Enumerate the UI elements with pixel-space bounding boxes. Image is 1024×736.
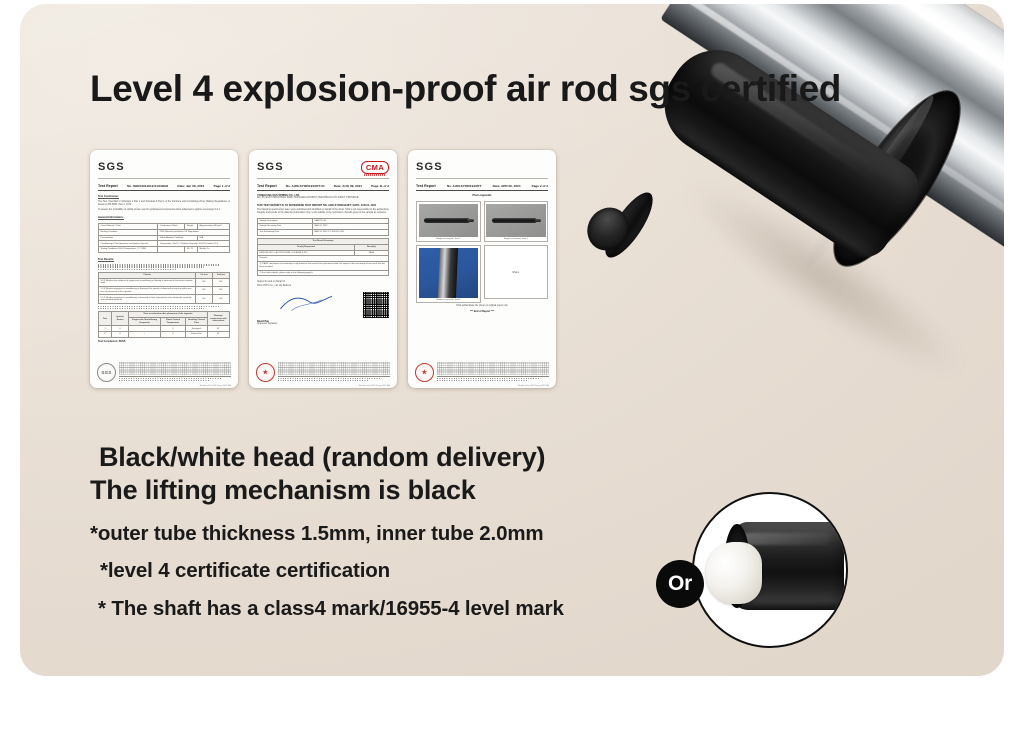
signed-company: SGS-CSTC Co., Ltd. Aie Bodemi <box>257 285 389 288</box>
certificate-footer: ★ <box>415 362 549 382</box>
page-title: Level 4 explosion-proof air rod sgs cert… <box>90 68 930 110</box>
cell: Extinct Fire <box>186 332 207 338</box>
divider <box>278 376 390 377</box>
divider <box>416 190 548 191</box>
cell: NO <box>195 278 212 286</box>
signature-mark <box>257 292 358 314</box>
conclusion-text: The Test, Specified in Schedule 4 Part 1… <box>98 201 230 208</box>
cell: 0 <box>160 332 186 338</box>
report-number: No. AJRLSY0601943/FT <box>447 184 482 188</box>
doc-type: Test Report <box>98 184 118 188</box>
microprint-line <box>278 380 368 381</box>
cell: NO <box>195 295 212 303</box>
cell <box>158 247 185 253</box>
report-number: No. SHES1612019:01/CHEM <box>127 184 168 188</box>
table-row: 2) For further details, please refer to … <box>258 270 389 276</box>
sgs-logo: SGS <box>98 162 125 173</box>
table-row: Testing Conditions, RH & Temperature, °C… <box>99 247 230 253</box>
photo-appendix-grid: Sample as received - View 1 Sample as re… <box>416 201 548 303</box>
cell: - <box>129 332 161 338</box>
column-subheader: Smoking Ceased Time <box>186 318 207 326</box>
cell: 49 / 21 <box>185 247 198 253</box>
column-subheader: Progressive Smouldering Composite <box>129 318 161 326</box>
photo-cell: Sample as received - View 1 <box>416 201 481 242</box>
certificate-footer: ★ <box>256 362 390 382</box>
black-nozzle <box>646 32 929 268</box>
table-row: 1) "PASS" declaration of conformity is o… <box>258 262 389 270</box>
cma-logo: CMA <box>361 161 389 174</box>
result-summary-table: Test Result Summary Test(s) Requested Re… <box>257 238 389 276</box>
divider <box>416 178 548 179</box>
section-label-general: General Information: <box>98 216 124 220</box>
photo-caption: Sample as received - View 3 <box>419 299 479 301</box>
footer-note: Member of the SGS Group (SGS SA) <box>200 385 231 387</box>
certificate-card[interactable]: SGS Test Report No. AJRLSY0601943/FT Dat… <box>408 150 556 388</box>
cell: 5.2.4 Whether progressive smouldering or… <box>99 287 196 295</box>
divider <box>257 190 389 191</box>
gas-rod-shape <box>424 218 469 222</box>
report-date: Date: AUG 09, 2021 <box>334 184 362 188</box>
photo-cell-blank: More <box>484 245 549 299</box>
end-of-report: *** End of Report *** <box>416 310 548 313</box>
microprint-line <box>98 308 204 309</box>
feature-line-certification: *level 4 certificate certification <box>90 561 700 582</box>
specimen-photo-view3 <box>419 248 479 298</box>
cell: 2* <box>99 332 112 338</box>
footer-microprint <box>278 362 390 382</box>
results-table: Test Ignition Source Time to extinction … <box>98 311 230 338</box>
gas-rod-shape <box>492 218 537 222</box>
microprint-line <box>278 378 381 379</box>
table-row: 2* 0 - 0 Extinct Fire B* <box>99 332 230 338</box>
microprint-line <box>119 380 209 381</box>
divider <box>98 190 230 191</box>
microprint-line <box>119 378 222 379</box>
photo-note: SGS authenticate the photo on original r… <box>416 305 548 308</box>
qr-code-icon <box>363 292 389 318</box>
sample-info-table: Sample Description SEAT PLUG Sample Rece… <box>257 218 389 236</box>
page-number: Page 2 of 2 <box>532 184 548 188</box>
red-seal-icon: ★ <box>415 363 434 382</box>
nozzle-end-button <box>579 200 637 259</box>
certificate-header: SGS <box>416 159 548 175</box>
intro-text: THIS TEST REPORT IS TO SUPERSEDE TEST RE… <box>257 204 389 207</box>
footer-note: Member of the SGS Group (SGS SA) <box>359 385 390 387</box>
table-row: 5.2.5 Whether progressive smouldering is… <box>99 295 230 303</box>
microprint-line <box>437 380 527 381</box>
cell: Test Performing Date <box>258 230 313 236</box>
cell: NO <box>212 278 229 286</box>
microprint-line <box>98 306 219 307</box>
or-badge: Or <box>656 560 704 608</box>
specimen-photo-view2 <box>486 204 546 237</box>
nozzle-tip-ring <box>597 186 661 264</box>
divider <box>98 178 230 179</box>
remark-text: 1) "PASS" declaration of conformity is o… <box>258 262 389 270</box>
section-label-results: Test Results: <box>98 258 114 262</box>
footer-microprint <box>119 362 231 382</box>
collar-rim-highlight <box>798 82 936 274</box>
microprint-block <box>278 362 390 375</box>
photo-caption: Sample as received - View 1 <box>419 238 479 240</box>
photo-caption: More <box>512 270 519 274</box>
report-number: No. AJRLSY0601943/FT-01 <box>286 184 325 188</box>
certificate-gallery: SGS Test Report No. SHES1612019:01/CHEM … <box>90 150 570 388</box>
microprint-line <box>98 269 177 270</box>
table-row: 5.2.3 Whether the evidence of progressiv… <box>99 278 230 286</box>
sgs-logo: SGS <box>416 162 443 173</box>
handwritten-signature-icon <box>257 292 358 314</box>
certificate-meta: Test Report No. AJRLSY0601943/FT-01 Date… <box>257 184 389 188</box>
criteria-table: Criteria 1st test 2nd test 5.2.3 Whether… <box>98 272 230 304</box>
microprint-block <box>119 362 231 375</box>
company-address: NO. 88, EAST INDUSTRIAL PARK, BOHUANG DI… <box>257 197 389 200</box>
red-seal-icon: ★ <box>256 363 275 382</box>
shaft-closeup-shape <box>438 248 458 298</box>
certificate-card[interactable]: SGS CMA Test Report No. AJRLSY0601943/FT… <box>249 150 397 388</box>
feature-line-tube-thickness: *outer tube thickness 1.5mm, inner tube … <box>90 524 700 545</box>
sgs-logo: SGS <box>257 162 284 173</box>
photo-caption: Sample as received - View 2 <box>486 238 546 240</box>
report-date: Date: APR 06, 2024 <box>493 184 521 188</box>
cell: 5.2.5 Whether progressive smouldering is… <box>99 295 196 303</box>
report-date: Date: Jan 08, 2016 <box>177 184 204 188</box>
feature-line-shaft-mark: * The shaft has a class4 mark/16955-4 le… <box>90 599 700 620</box>
feature-line-mechanism: The lifting mechanism is black <box>90 474 700 507</box>
signatory-title: Approved Signatory <box>257 323 389 326</box>
microprint-line <box>98 264 219 265</box>
page-number: Page 1 of 3 <box>214 184 230 188</box>
product-shadow <box>668 159 982 400</box>
chrome-barrel <box>660 4 1004 256</box>
cell: Testing Conditions, RH & Temperature, °C… <box>99 247 158 253</box>
doc-type: Test Report <box>257 184 277 188</box>
page-number: Page 11 of 2 <box>371 184 389 188</box>
certificate-footer: SGS <box>97 362 231 382</box>
column-header: Test <box>99 312 112 326</box>
certificate-meta: Test Report No. AJRLSY0601943/FT Date: A… <box>416 184 548 188</box>
microprint-block <box>437 362 549 375</box>
certificate-meta: Test Report No. SHES1612019:01/CHEM Date… <box>98 184 230 188</box>
microprint-line <box>98 266 204 267</box>
divider <box>119 376 231 377</box>
column-subheader: Flame Ceased Temperature <box>160 318 186 326</box>
table-row: Test Performing Date MAY 24, 2021 TO JUN… <box>258 230 389 236</box>
remark-text: 2) For further details, please refer to … <box>258 270 389 276</box>
microprint-line <box>437 378 540 379</box>
cell: MAY 24, 2021 TO JUN 04, 2021 <box>313 230 389 236</box>
certificate-card[interactable]: SGS Test Report No. SHES1612019:01/CHEM … <box>90 150 238 388</box>
divider <box>437 376 549 377</box>
body-text: The following specimen(s) was / were sub… <box>257 209 389 216</box>
inset-white-head-tip <box>706 542 762 604</box>
divider <box>257 178 389 179</box>
footer-note: Member of the SGS Group (SGS SA) <box>518 385 549 387</box>
table-row: 5.2.4 Whether progressive smouldering or… <box>99 287 230 295</box>
column-header: Flaming / combustion with observation <box>207 312 229 326</box>
photo-section-title: Photo Appendix <box>416 194 548 197</box>
column-header: Ignition Source <box>112 312 129 326</box>
photo-cell: Sample as received - View 3 <box>416 245 481 303</box>
cell: NO <box>212 287 229 295</box>
signature-row <box>257 292 389 318</box>
cell: 0 <box>112 332 129 338</box>
photo-cell: Sample as received - View 2 <box>484 201 549 242</box>
sgs-seal-icon: SGS <box>97 363 116 382</box>
product-banner-panel: Level 4 explosion-proof air rod sgs cert… <box>20 4 1004 676</box>
test-conclusion: Test Conclusion: PASS <box>98 340 230 343</box>
conclusion-text-2: To assess the probability of visible smo… <box>98 209 230 212</box>
general-info-table: Cover Material / Color Combustion / Blac… <box>98 223 230 253</box>
cell: NO <box>212 295 229 303</box>
certificate-header: SGS <box>98 159 230 175</box>
cell: NO <box>195 287 212 295</box>
certificate-header: SGS CMA <box>257 159 389 175</box>
section-label-conclusion: Test Conclusion: <box>98 195 119 199</box>
feature-line-head-color: Black/white head (random delivery) <box>90 441 700 474</box>
doc-type: Test Report <box>416 184 436 188</box>
cell: 5.2.3 Whether the evidence of progressiv… <box>99 278 196 286</box>
feature-text-block: Black/white head (random delivery) The l… <box>90 441 700 619</box>
white-head-variant-inset <box>692 492 848 648</box>
footer-microprint <box>437 362 549 382</box>
specimen-photo-view1 <box>419 204 479 237</box>
cell: B* <box>207 332 229 338</box>
cell: Min Air: 1s <box>198 247 230 253</box>
